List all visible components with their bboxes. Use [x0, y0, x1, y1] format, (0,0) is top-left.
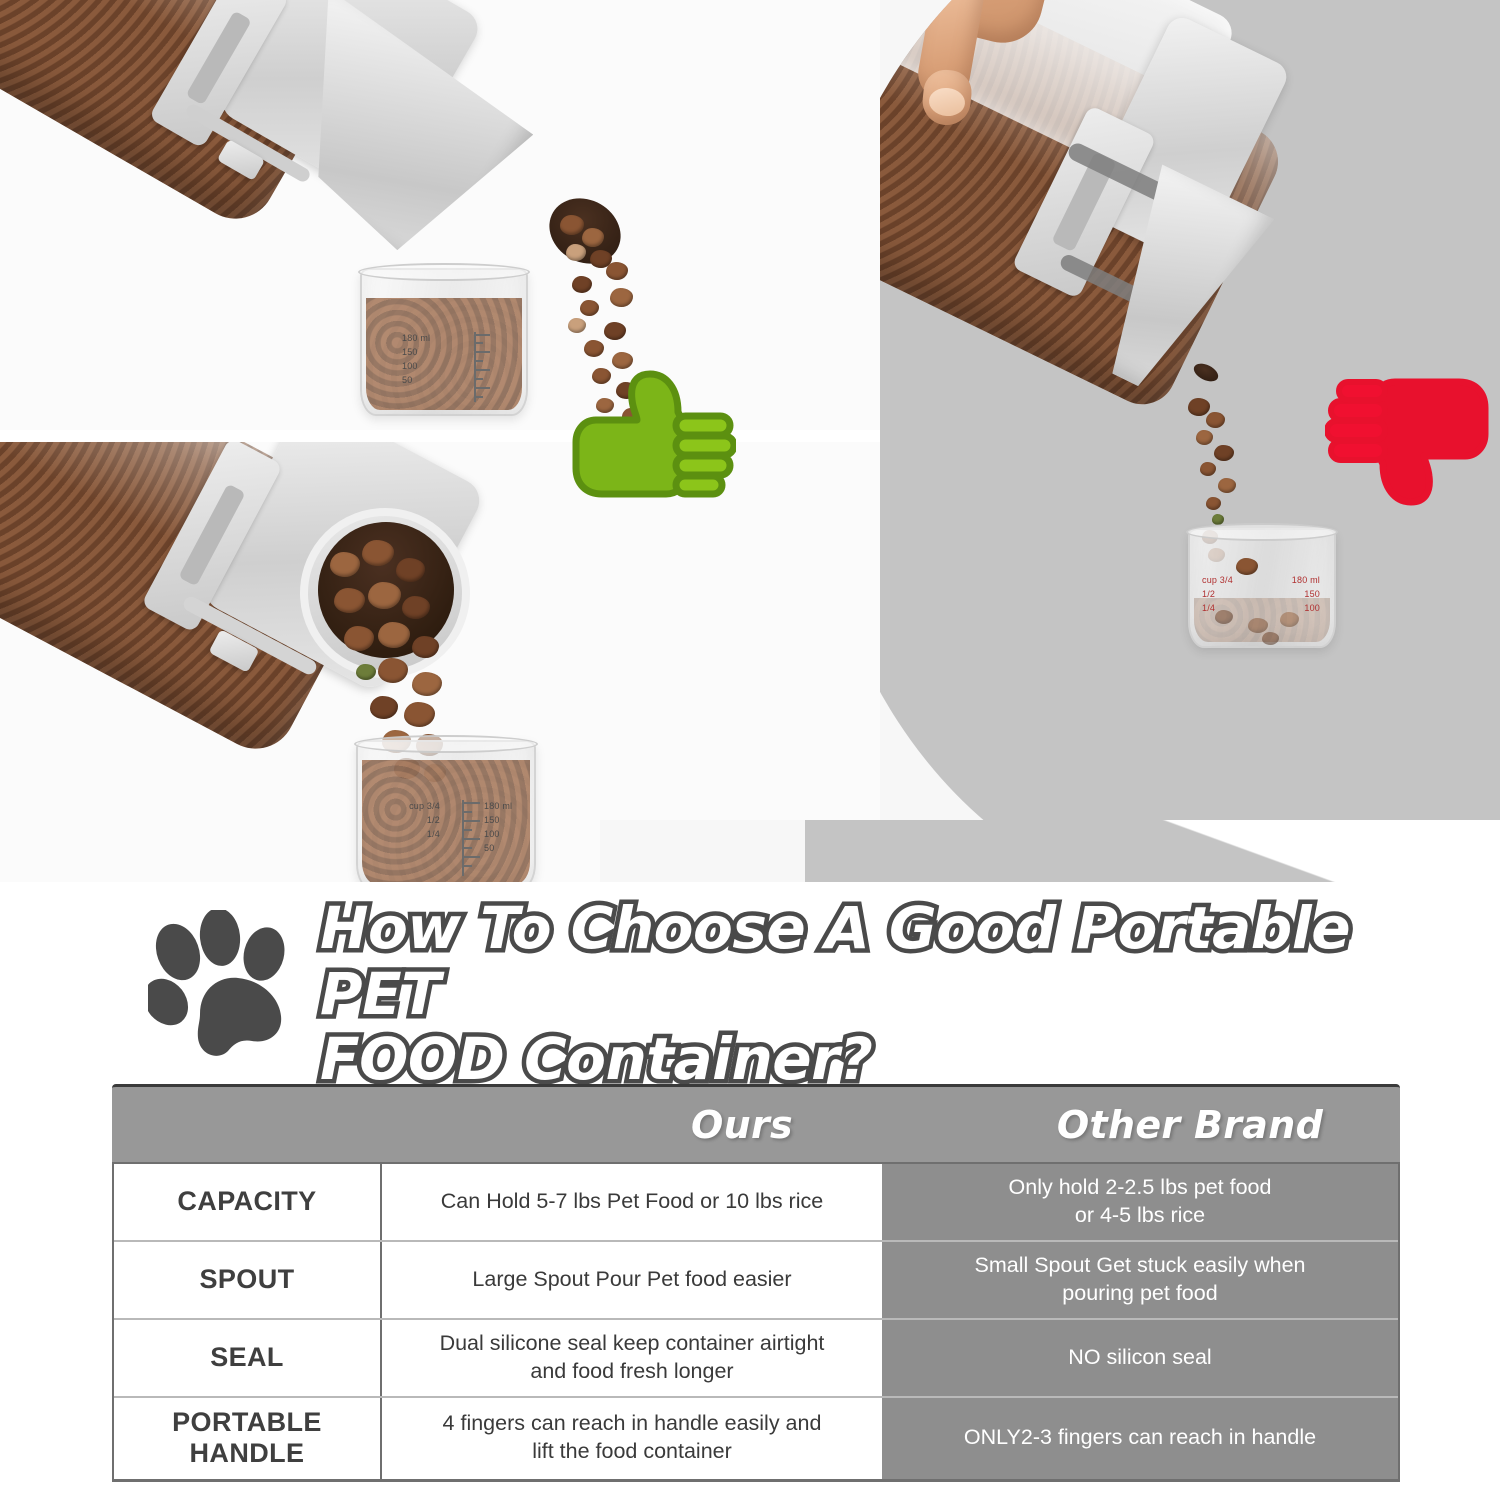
page-title: How To Choose A Good Portable PET FOOD C…: [320, 896, 1440, 1093]
row-ours-portable-handle: 4 fingers can reach in handle easily and…: [382, 1398, 882, 1479]
comparison-table: Ours Other Brand CAPACITY Can Hold 5-7 l…: [112, 1084, 1400, 1482]
row-other-portable-handle: ONLY2-3 fingers can reach in handle: [882, 1398, 1398, 1479]
table-row: SPOUT Large Spout Pour Pet food easier S…: [114, 1242, 1398, 1320]
table-row: PORTABLEHANDLE 4 fingers can reach in ha…: [114, 1398, 1398, 1479]
row-ours-seal: Dual silicone seal keep container airtig…: [382, 1320, 882, 1396]
thumbs-up-icon: [566, 368, 736, 498]
table-header-blank: [112, 1087, 504, 1162]
row-ours-spout: Large Spout Pour Pet food easier: [382, 1242, 882, 1318]
row-label-capacity: CAPACITY: [114, 1164, 382, 1240]
headline-block: How To Choose A Good Portable PET FOOD C…: [0, 882, 1500, 1077]
measuring-cup-bottom: cup 3/41/21/4 180 ml15010050: [356, 740, 536, 882]
measuring-cup-top: 180 ml15010050: [360, 268, 528, 416]
cup-scale-ml: 180 ml15010050: [484, 800, 512, 856]
cup-scale-cups: cup 3/41/21/4: [376, 800, 440, 842]
row-label-spout: SPOUT: [114, 1242, 382, 1318]
thumbs-down-icon: [1325, 368, 1495, 508]
photo-montage: cup 3/41/21/4 180 ml150100: [0, 0, 1500, 882]
table-row: SEAL Dual silicone seal keep container a…: [114, 1320, 1398, 1398]
paw-print-icon: [148, 910, 323, 1058]
headline-line-2: FOOD Container?: [320, 1027, 1440, 1093]
row-other-seal: NO silicon seal: [882, 1320, 1398, 1396]
table-row: CAPACITY Can Hold 5-7 lbs Pet Food or 10…: [114, 1164, 1398, 1242]
panel-divider: [0, 430, 880, 442]
row-ours-capacity: Can Hold 5-7 lbs Pet Food or 10 lbs rice: [382, 1164, 882, 1240]
table-body: CAPACITY Can Hold 5-7 lbs Pet Food or 10…: [112, 1162, 1400, 1482]
photo-ours-bottom: cup 3/41/21/4 180 ml15010050: [0, 440, 880, 882]
row-other-capacity: Only hold 2-2.5 lbs pet foodor 4-5 lbs r…: [882, 1164, 1398, 1240]
table-header-row: Ours Other Brand: [112, 1084, 1400, 1162]
photo-ours-top: 180 ml15010050: [0, 0, 880, 432]
headline-line-1: How To Choose A Good Portable PET: [320, 896, 1440, 1027]
row-other-spout: Small Spout Get stuck easily whenpouring…: [882, 1242, 1398, 1318]
cup-scale-top: 180 ml15010050: [402, 332, 430, 388]
infographic-page: cup 3/41/21/4 180 ml150100: [0, 0, 1500, 1500]
table-header-ours: Ours: [504, 1087, 980, 1162]
row-label-seal: SEAL: [114, 1320, 382, 1396]
table-header-other-brand: Other Brand: [980, 1087, 1400, 1162]
row-label-portable-handle: PORTABLEHANDLE: [114, 1398, 382, 1479]
